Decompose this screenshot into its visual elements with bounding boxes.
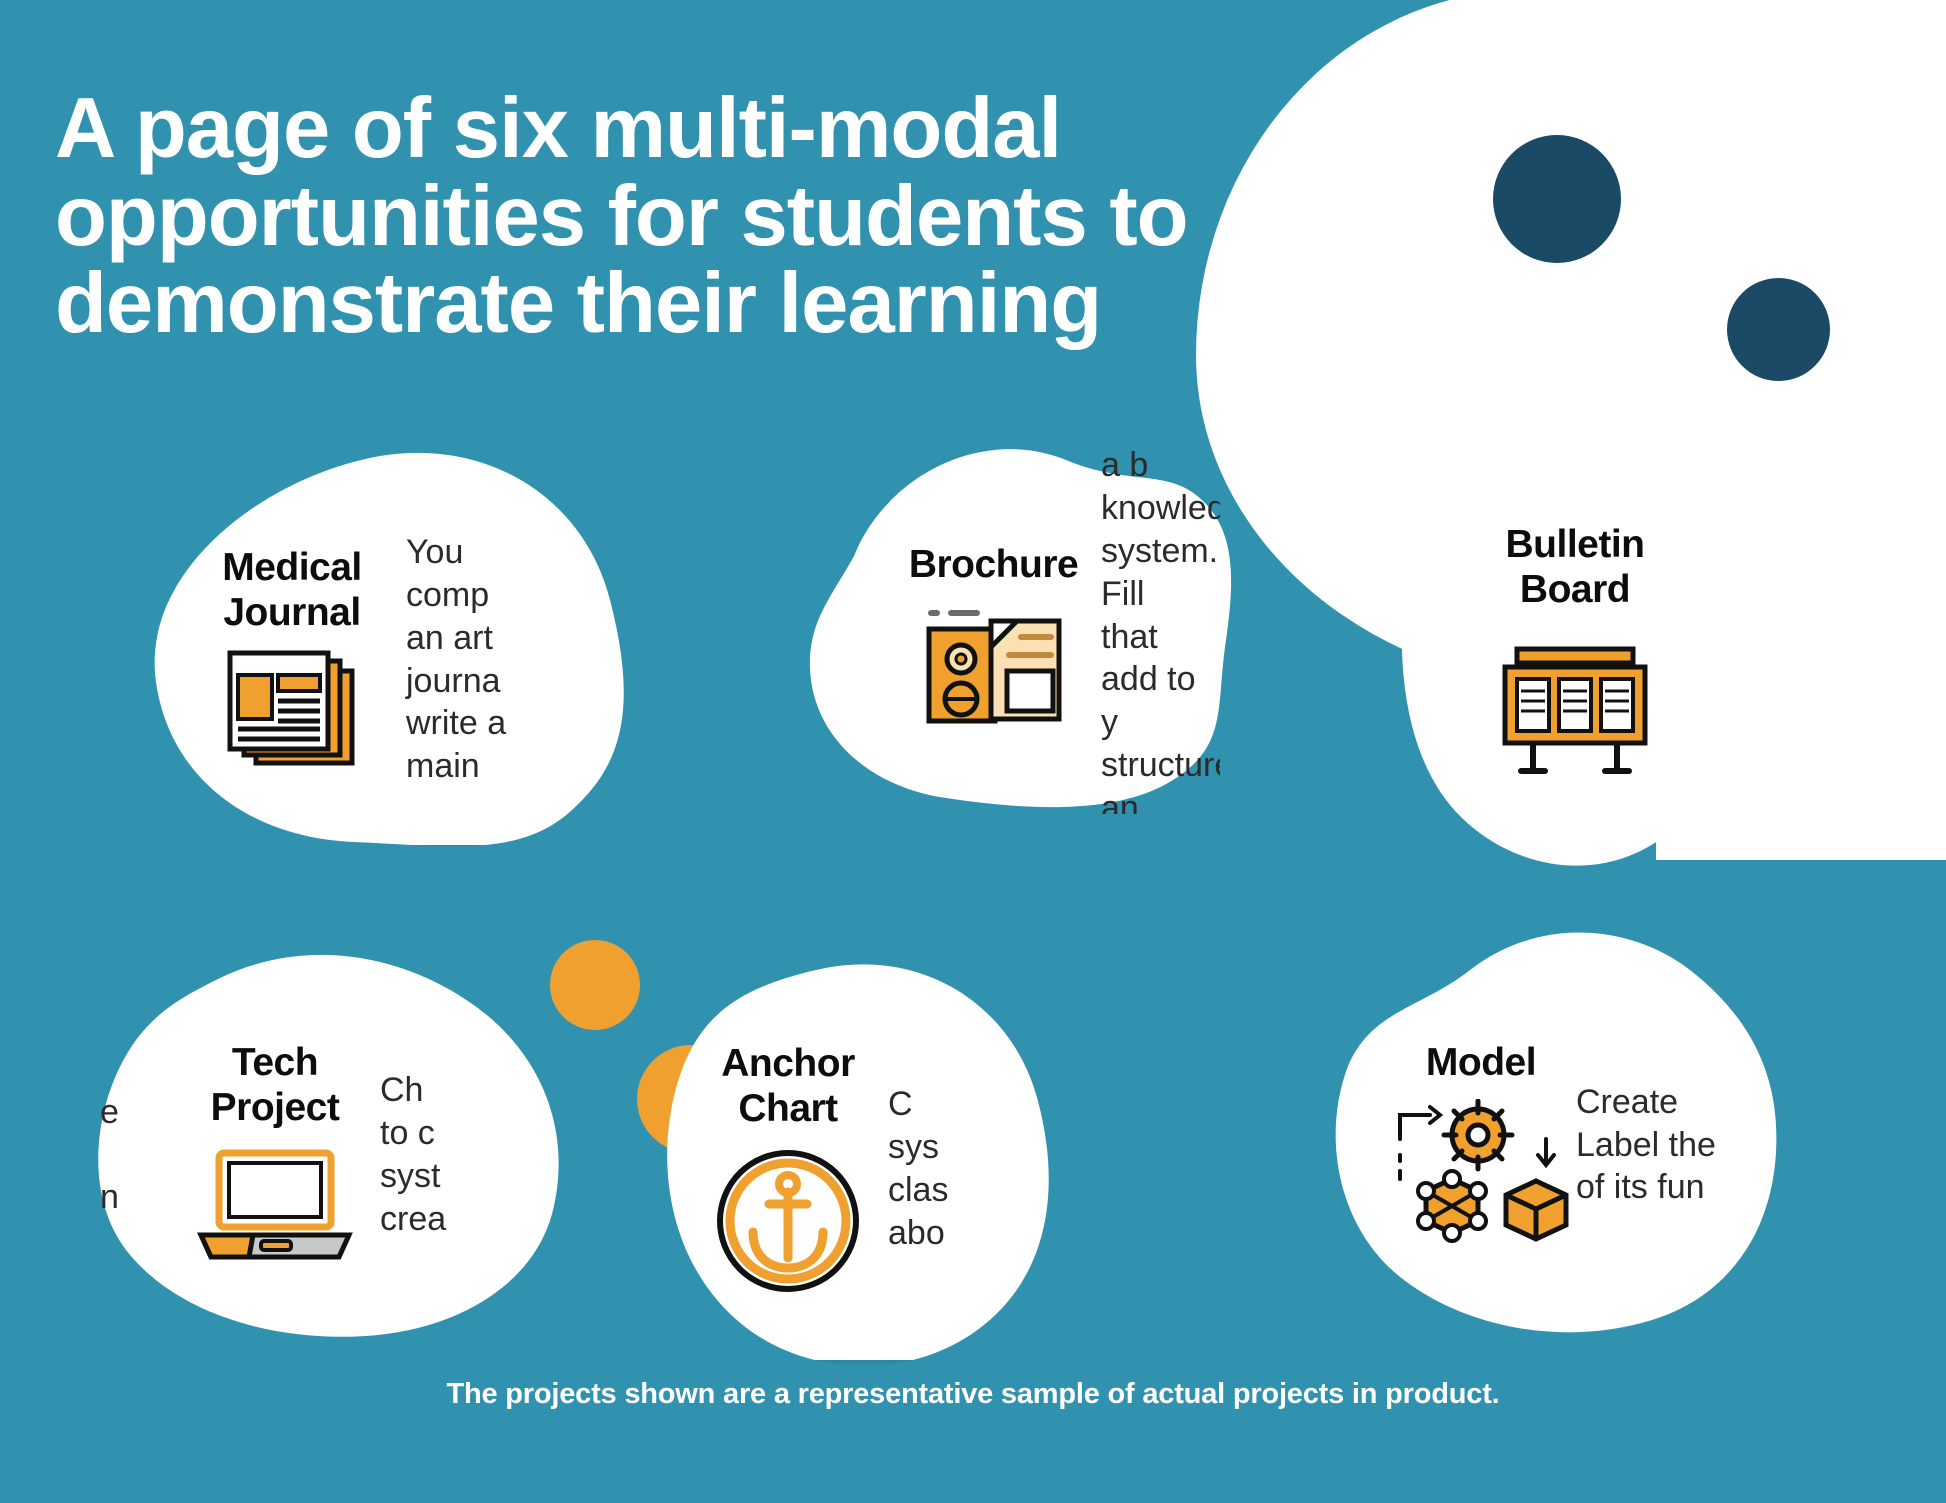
card-body-text: You comp an art journa write a main — [392, 531, 618, 788]
footer-note: The projects shown are a representative … — [0, 1378, 1946, 1411]
card-title: Anchor Chart — [721, 1042, 855, 1132]
card-body-text: Create a b knowledge system. Fill that a… — [1101, 444, 1220, 814]
project-card-bulletin-board[interactable]: Bulletin Board — [1400, 412, 1750, 872]
project-card-anchor-chart[interactable]: Anchor Chart C sys clas abo — [660, 960, 1080, 1360]
page-title: A page of six multi-modal opportunities … — [55, 85, 1485, 348]
project-card-brochure[interactable]: Brochure — [736, 444, 1236, 814]
laptop-icon — [193, 1145, 357, 1269]
card-title: Tech Project — [211, 1041, 340, 1131]
navy-circle-decoration-1 — [1493, 135, 1621, 263]
card-body-text-left-overflow: e n — [100, 1091, 170, 1219]
card-body-text: C sys clas abo — [888, 1083, 1072, 1254]
card-body-text: Ch to c syst crea — [380, 1069, 580, 1240]
page-title-line-2: opportunities for students to — [55, 173, 1485, 261]
card-title: Model — [1426, 1041, 1536, 1086]
project-card-medical-journal[interactable]: Medical Journal You comp an art journa w… — [148, 450, 628, 845]
anchor-icon — [713, 1146, 863, 1296]
card-title: Bulletin Board — [1506, 523, 1645, 613]
model-gear-cube-icon — [1386, 1099, 1576, 1249]
project-card-tech-project[interactable]: e n Tech Project Ch to c syst crea — [90, 950, 590, 1340]
newspaper-journal-icon — [222, 649, 362, 773]
navy-circle-decoration-2 — [1727, 278, 1830, 381]
card-title: Brochure — [909, 543, 1078, 588]
card-body-text: Create Label the of its fun — [1576, 1081, 1784, 1209]
page-title-line-1: A page of six multi-modal — [55, 85, 1485, 173]
brochure-map-icon — [921, 601, 1067, 731]
card-title: Medical Journal — [222, 546, 362, 636]
page-title-line-3: demonstrate their learning — [55, 260, 1485, 348]
project-card-model[interactable]: Model — [1330, 930, 1790, 1340]
bulletin-board-icon — [1495, 627, 1655, 777]
